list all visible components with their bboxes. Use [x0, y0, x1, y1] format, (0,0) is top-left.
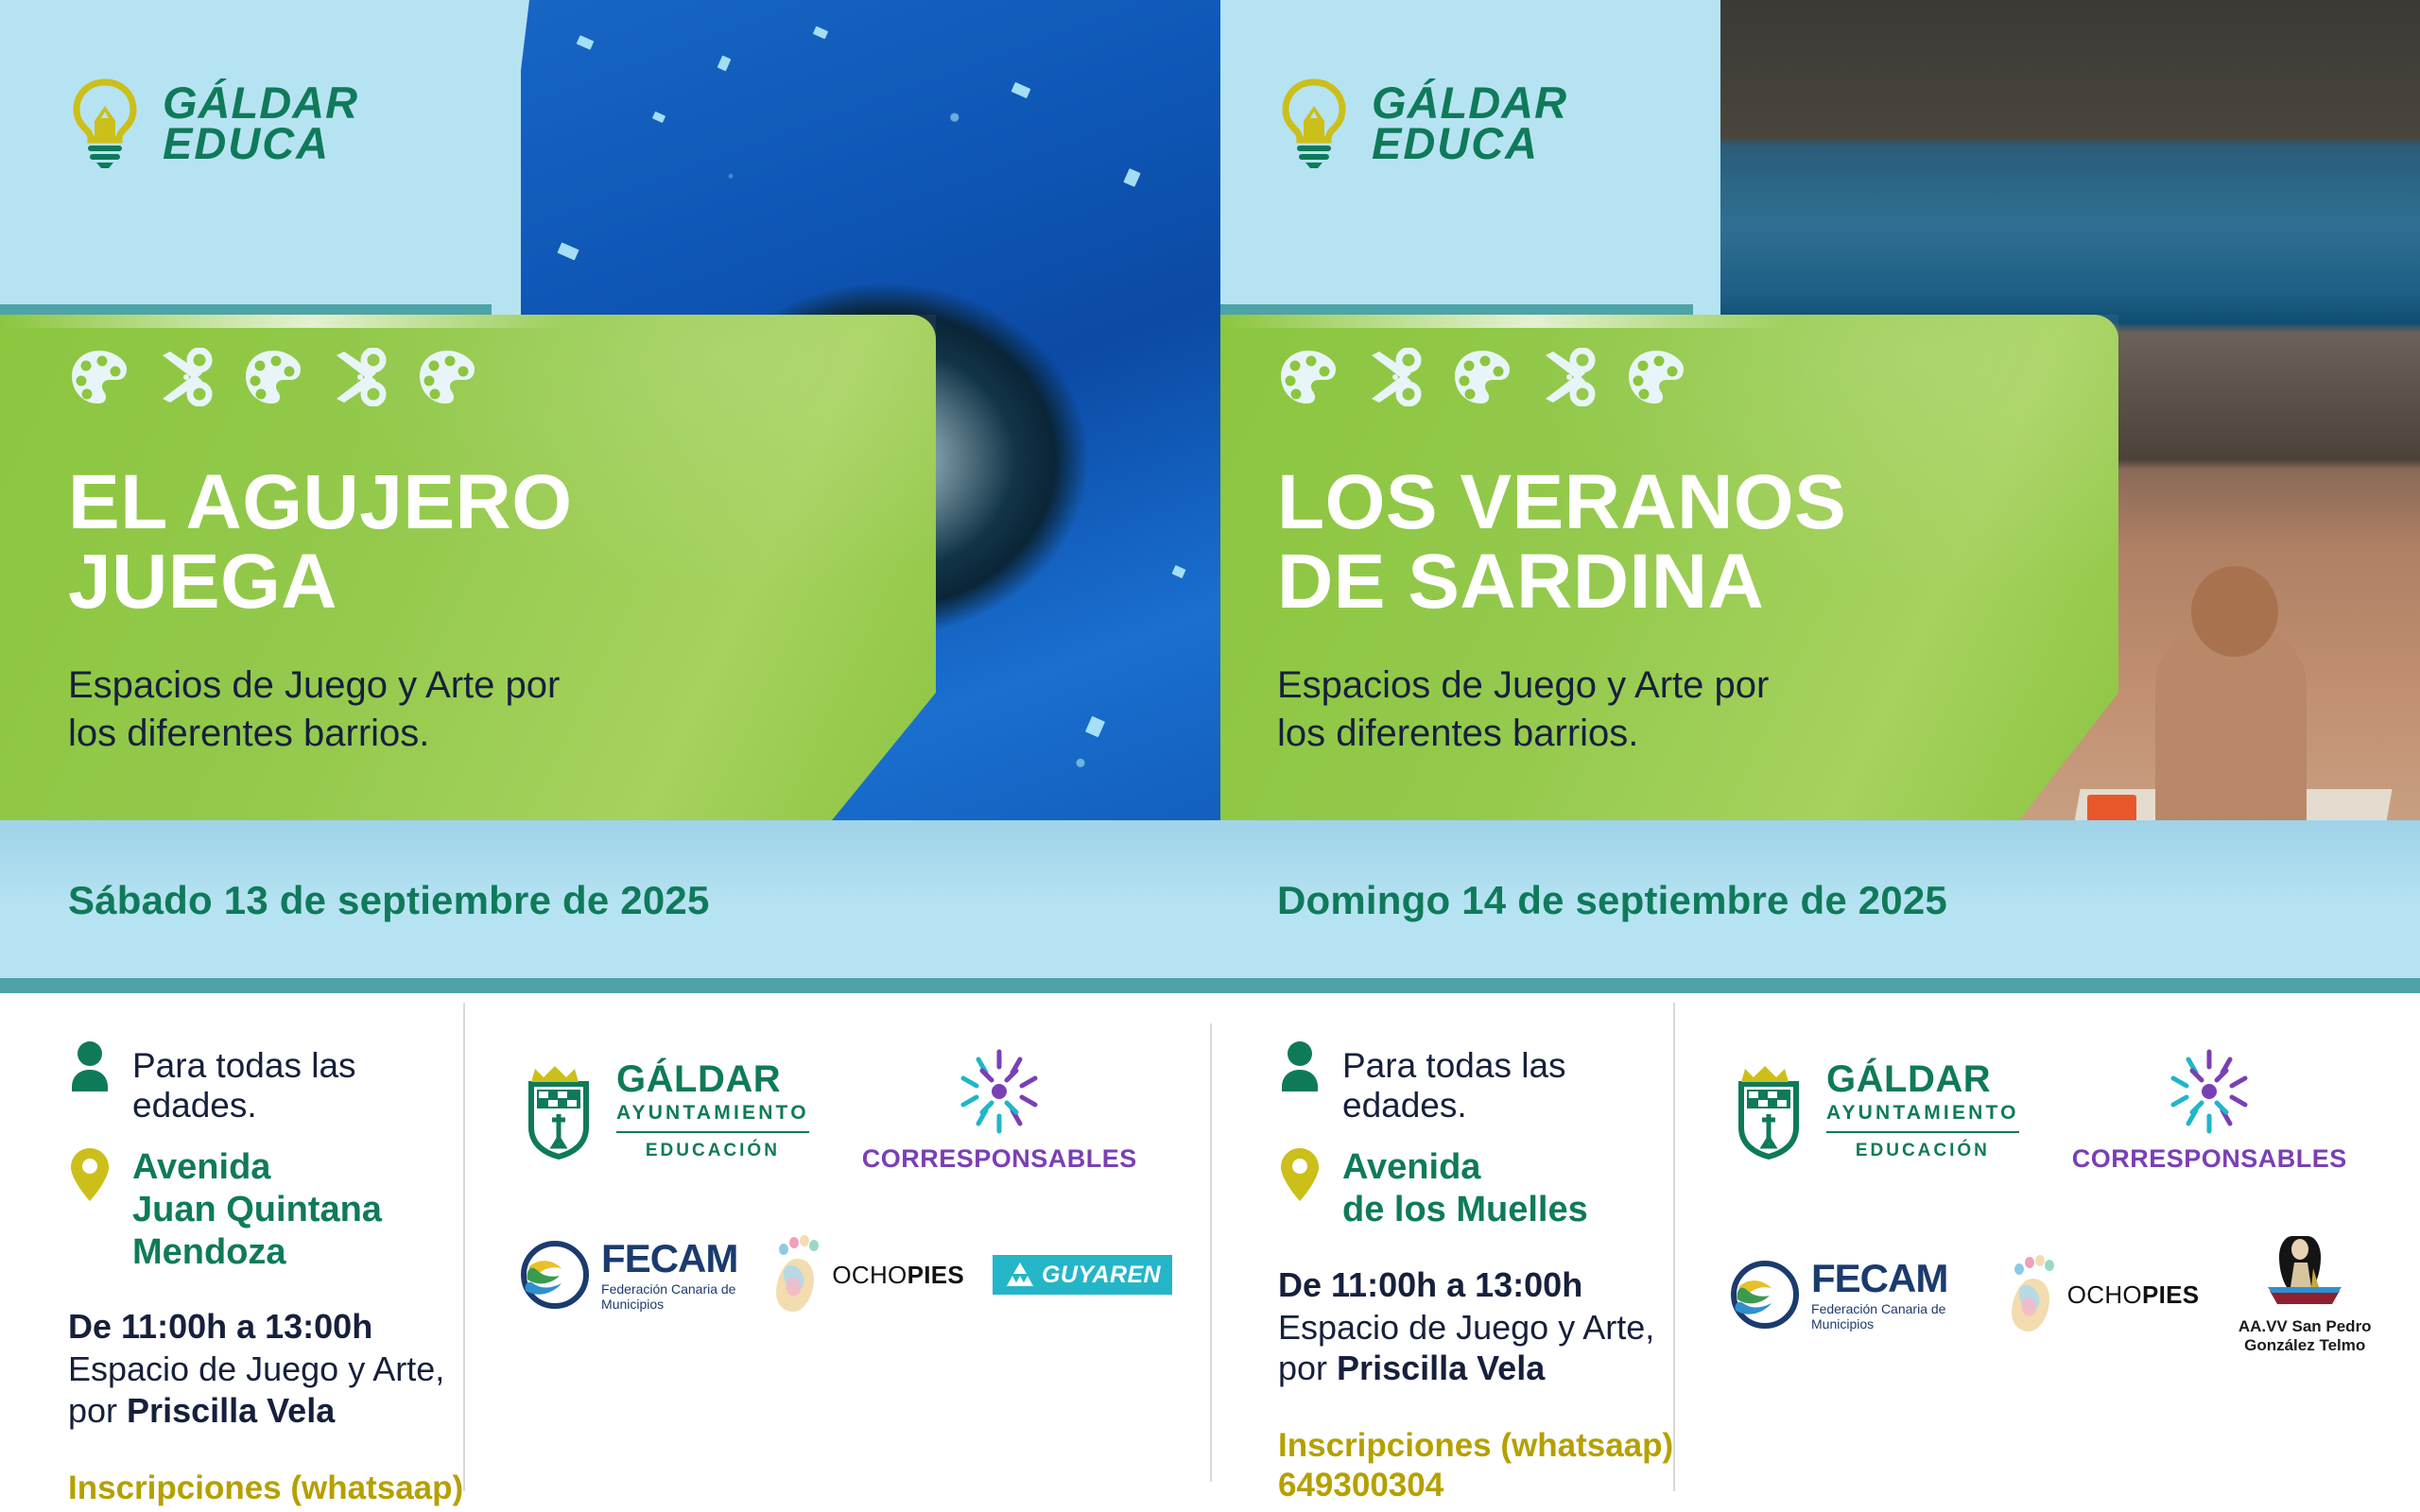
scissors-icon: [155, 348, 217, 406]
activity-line-1: Espacio de Juego y Arte,: [1278, 1307, 1675, 1348]
footprint-icon: [766, 1234, 824, 1315]
info-sponsors-section: Para todas las edades. Avenida Juan Quin…: [0, 993, 2420, 1512]
address-line-1: Avenida: [1342, 1146, 1588, 1189]
corresponsables-wordmark: CORRESPONSABLES: [862, 1144, 1137, 1174]
address-row: Avenida Juan Quintana Mendoza: [68, 1146, 465, 1273]
event-subtitle-line-1: Espacios de Juego y Arte por: [1277, 661, 1769, 710]
brand-galdar-educa: GÁLDAR EDUCA: [1277, 77, 1567, 168]
sponsor-logos: GÁLDAR AYUNTAMIENTO EDUCACIÓN: [1675, 993, 2420, 1512]
brand-galdar-educa: GÁLDAR EDUCA: [68, 77, 358, 168]
signup-label: Inscripciones (whatsaap): [68, 1469, 463, 1506]
logo-fecam: FECAM Federación Canaria de Municipios: [1728, 1258, 1973, 1332]
activity-prefix: por: [68, 1391, 127, 1430]
burst-icon: [954, 1046, 1045, 1137]
logo-corresponsables: CORRESPONSABLES: [2072, 1046, 2347, 1174]
ages-text: Para todas las edades.: [132, 1040, 465, 1125]
event-title-line-2: JUEGA: [68, 542, 573, 622]
ages-text: Para todas las edades.: [1342, 1040, 1675, 1125]
ayuntamiento-dept: EDUCACIÓN: [616, 1131, 809, 1160]
map-pin-icon: [68, 1146, 112, 1203]
palette-icon: [1277, 348, 1340, 406]
ayuntamiento-wordmark: GÁLDAR AYUNTAMIENTO EDUCACIÓN: [616, 1060, 809, 1160]
event-info-block: Para todas las edades. Avenida Juan Quin…: [0, 993, 465, 1512]
scissors-icon: [329, 348, 391, 406]
triangles-icon: [1004, 1261, 1036, 1289]
event-panel-el-agujero-juega: GÁLDAR EDUCA: [0, 0, 1220, 978]
sponsor-row-2: FECAM Federación Canaria de Municipios: [518, 1234, 1172, 1315]
brand-wordmark: GÁLDAR EDUCA: [163, 82, 358, 163]
fecam-wordmark: FECAM Federación Canaria de Municipios: [601, 1239, 737, 1312]
fecam-wordmark: FECAM Federación Canaria de Municipios: [1811, 1259, 1973, 1332]
lightbulb-pencil-icon: [1277, 77, 1351, 168]
event-date: Domingo 14 de septiembre de 2025: [1277, 878, 1947, 923]
event-subtitle: Espacios de Juego y Arte por los diferen…: [68, 661, 560, 758]
fecam-sub: Federación Canaria de Municipios: [601, 1281, 737, 1312]
ocho-pies-name-2: PIES: [907, 1261, 964, 1289]
brand-line-2: EDUCA: [163, 123, 358, 163]
palette-icon: [242, 348, 304, 406]
address-row: Avenida de los Muelles: [1278, 1146, 1675, 1231]
ages-row: Para todas las edades.: [68, 1040, 465, 1125]
activity-icons-row: [68, 348, 478, 406]
event-title-line-1: EL AGUJERO: [68, 463, 573, 542]
logo-fecam: FECAM Federación Canaria de Municipios: [518, 1238, 737, 1312]
signup-block[interactable]: Inscripciones (whatsaap) 649300304: [1278, 1426, 1675, 1505]
burst-icon: [2164, 1046, 2255, 1137]
event-activity: Espacio de Juego y Arte, por Priscilla V…: [1278, 1307, 1675, 1388]
palette-icon: [1451, 348, 1513, 406]
palette-icon: [68, 348, 130, 406]
scissors-icon: [1538, 348, 1600, 406]
shield-icon: [1728, 1061, 1809, 1160]
logo-ocho-pies: OCHOPIES: [2001, 1254, 2200, 1335]
event-title: LOS VERANOS DE SARDINA: [1277, 463, 1846, 623]
event-subtitle-line-1: Espacios de Juego y Arte por: [68, 661, 560, 710]
guyaren-wordmark: GUYAREN: [1042, 1262, 1161, 1289]
address-text: Avenida de los Muelles: [1342, 1146, 1588, 1231]
person-icon: [68, 1040, 112, 1093]
activity-line-2: por Priscilla Vela: [1278, 1348, 1675, 1388]
palette-icon: [1625, 348, 1687, 406]
signup-phone[interactable]: 649300304: [1278, 1466, 1675, 1505]
scissors-icon: [1364, 348, 1426, 406]
event-title: EL AGUJERO JUEGA: [68, 463, 573, 623]
shield-icon: [518, 1061, 599, 1160]
lightbulb-pencil-icon: [68, 77, 142, 168]
activity-icons-row: [1277, 348, 1687, 406]
ocho-pies-name-2: PIES: [2142, 1280, 2199, 1309]
event-panels: GÁLDAR EDUCA: [0, 0, 2420, 978]
section-divider-rule: [0, 978, 2420, 993]
ayuntamiento-wordmark: GÁLDAR AYUNTAMIENTO EDUCACIÓN: [1826, 1060, 2019, 1160]
fecam-sub: Federación Canaria de Municipios: [1811, 1301, 1973, 1332]
address-text: Avenida Juan Quintana Mendoza: [132, 1146, 465, 1273]
info-half-el-agujero-juega: Para todas las edades. Avenida Juan Quin…: [0, 993, 1210, 1512]
sponsor-row-1: GÁLDAR AYUNTAMIENTO EDUCACIÓN: [1728, 1046, 2382, 1174]
poster-root: GÁLDAR EDUCA: [0, 0, 2420, 1512]
activity-author: Priscilla Vela: [1337, 1349, 1545, 1387]
corresponsables-wordmark: CORRESPONSABLES: [2072, 1144, 2347, 1174]
ocho-pies-wordmark: OCHOPIES: [2067, 1280, 2200, 1310]
footprint-icon: [2001, 1254, 2060, 1335]
brand-wordmark: GÁLDAR EDUCA: [1372, 82, 1567, 163]
aavv-line-2: González Telmo: [2238, 1336, 2372, 1355]
signup-block[interactable]: Inscripciones (whatsaap) 649300304: [68, 1469, 465, 1512]
fecam-name: FECAM: [1811, 1259, 1973, 1298]
sponsor-row-2: FECAM Federación Canaria de Municipios: [1728, 1234, 2382, 1356]
signup-label: Inscripciones (whatsaap): [1278, 1427, 1673, 1464]
fecam-mark-icon: [1728, 1258, 1802, 1332]
brand-line-2: EDUCA: [1372, 123, 1567, 163]
saint-boat-icon: [2253, 1234, 2357, 1314]
sponsor-logos: GÁLDAR AYUNTAMIENTO EDUCACIÓN: [465, 993, 1210, 1512]
ocho-pies-name-1: OCHO: [2067, 1280, 2142, 1309]
ocho-pies-name-1: OCHO: [832, 1261, 907, 1289]
logo-aavv-san-pedro: AA.VV San Pedro González Telmo: [2227, 1234, 2382, 1356]
event-date: Sábado 13 de septiembre de 2025: [68, 878, 710, 923]
activity-prefix: por: [1278, 1349, 1337, 1387]
logo-ocho-pies: OCHOPIES: [766, 1234, 964, 1315]
ayuntamiento-sub: AYUNTAMIENTO: [1826, 1103, 2019, 1123]
person-icon: [1278, 1040, 1322, 1093]
logo-galdar-ayuntamiento: GÁLDAR AYUNTAMIENTO EDUCACIÓN: [1728, 1060, 2019, 1160]
event-subtitle-line-2: los diferentes barrios.: [1277, 710, 1769, 758]
event-activity: Espacio de Juego y Arte, por Priscilla V…: [68, 1349, 465, 1430]
child-head: [2191, 566, 2278, 657]
ocho-pies-wordmark: OCHOPIES: [832, 1261, 964, 1290]
aavv-wordmark: AA.VV San Pedro González Telmo: [2238, 1317, 2372, 1356]
ayuntamiento-sub: AYUNTAMIENTO: [616, 1103, 809, 1123]
ayuntamiento-name: GÁLDAR: [616, 1060, 809, 1098]
event-time: De 11:00h a 13:00h: [1278, 1265, 1675, 1305]
header-divider-rule: [0, 304, 492, 315]
ayuntamiento-name: GÁLDAR: [1826, 1060, 2019, 1098]
logo-galdar-ayuntamiento: GÁLDAR AYUNTAMIENTO EDUCACIÓN: [518, 1060, 809, 1160]
address-line-2: de los Muelles: [1342, 1189, 1588, 1231]
event-subtitle-line-2: los diferentes barrios.: [68, 710, 560, 758]
child-body: [2155, 628, 2307, 846]
brand-line-1: GÁLDAR: [163, 82, 358, 123]
aavv-line-1: AA.VV San Pedro: [2238, 1317, 2372, 1336]
palette-icon: [416, 348, 478, 406]
logo-corresponsables: CORRESPONSABLES: [862, 1046, 1137, 1174]
activity-line-2: por Priscilla Vela: [68, 1390, 465, 1431]
event-time: De 11:00h a 13:00h: [68, 1307, 465, 1347]
info-half-los-veranos-de-sardina: Para todas las edades. Avenida de los Mu…: [1210, 993, 2420, 1512]
logo-guyaren: GUYAREN: [993, 1255, 1172, 1295]
ayuntamiento-dept: EDUCACIÓN: [1826, 1131, 2019, 1160]
ages-row: Para todas las edades.: [1278, 1040, 1675, 1125]
event-title-line-2: DE SARDINA: [1277, 542, 1846, 622]
brand-line-1: GÁLDAR: [1372, 82, 1567, 123]
signup-phone[interactable]: 649300304: [68, 1508, 465, 1512]
event-subtitle: Espacios de Juego y Arte por los diferen…: [1277, 661, 1769, 758]
sponsor-row-1: GÁLDAR AYUNTAMIENTO EDUCACIÓN: [518, 1046, 1172, 1174]
event-panel-los-veranos-de-sardina: GÁLDAR EDUCA: [1220, 0, 2420, 978]
event-info-block: Para todas las edades. Avenida de los Mu…: [1210, 993, 1675, 1512]
header-divider-rule: [1220, 304, 1693, 315]
event-title-line-1: LOS VERANOS: [1277, 463, 1846, 542]
address-line-2: Juan Quintana Mendoza: [132, 1189, 465, 1274]
activity-author: Priscilla Vela: [127, 1391, 335, 1430]
fecam-mark-icon: [518, 1238, 592, 1312]
activity-line-1: Espacio de Juego y Arte,: [68, 1349, 465, 1389]
address-line-1: Avenida: [132, 1146, 465, 1189]
map-pin-icon: [1278, 1146, 1322, 1203]
fecam-name: FECAM: [601, 1239, 737, 1279]
